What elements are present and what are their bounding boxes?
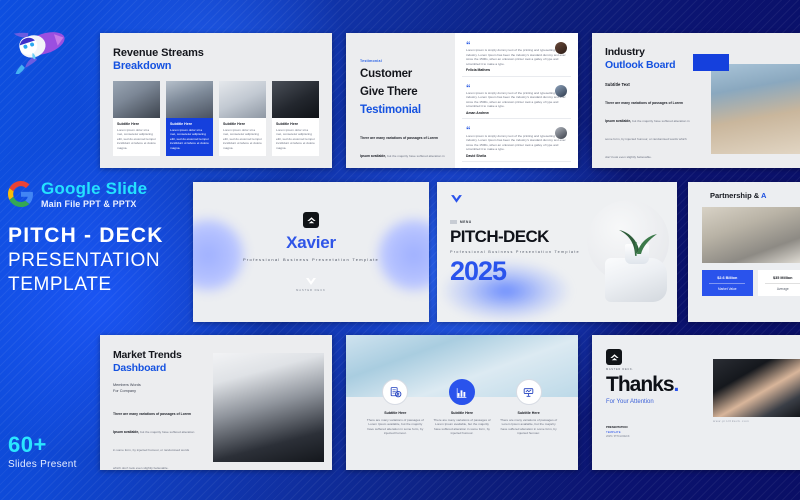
card-photo [272,81,319,118]
footer-meta: 2025 / PITCH DECK [606,435,711,438]
market-meta: Members Words For Company [113,383,211,395]
google-g-icon [8,181,34,207]
thanks-dot: . [674,373,679,396]
card-photo [219,81,266,118]
promo-headline: PITCH - DECK PRESENTATION TEMPLATE [0,223,196,298]
partnership-stat-list: $2.6 Billion Market Value $35 Million Av… [702,270,800,296]
thanks-footer: PRESENTATION TEMPLATE 2025 / PITCH DECK [606,425,711,438]
thanks-url: www.pitchdeck.com [713,420,800,423]
testimonial-card[interactable]: “ Lorem ipsum is simply dummy text of th… [462,39,571,77]
stat-value: $2.6 Billion [717,276,737,280]
revenue-card[interactable]: Subtitle Here Lorem ipsum dolor sit a me… [272,81,319,156]
testimonial-title-2: Give There [360,85,455,99]
slide-industry-outlook[interactable]: Industry Outlook Board Subtitle Text The… [592,33,800,168]
revenue-card[interactable]: Subtitle Here Lorem ipsum dolor sit a me… [113,81,160,156]
google-slide-subtitle: Main File PPT & PPTX [41,199,147,209]
industry-photo [711,64,800,154]
bar-chart-icon [449,379,475,405]
card-body: Lorem ipsum dolor sit a met, consetetur … [276,128,315,150]
divider [709,283,745,284]
feature-column[interactable]: Subtitle Here There are many variations … [500,379,558,436]
promo-title-line-2: PRESENTATION [8,249,196,273]
footer-name: TEMPLATE [606,430,711,434]
thanks-photo [713,359,800,417]
card-body: Lorem ipsum dolor sit a met, consetetur … [223,128,262,150]
blur-circle-left [193,216,247,294]
testimonial-title-3: Testimonial [360,103,455,117]
xavier-footer: MASTER DECK [296,289,326,292]
slides-count: 60+ Slides Present [8,432,77,470]
revenue-card[interactable]: Subtitle Here Lorem ipsum dolor sit a me… [166,81,213,156]
documents-icon [382,379,408,405]
feature-text: There are many variations of passages of… [500,418,558,436]
revenue-title-2: Breakdown [113,60,319,72]
stat-label: Market Value [718,287,737,291]
promo-title-line-3: TEMPLATE [8,273,196,297]
market-photo [213,353,324,462]
avatar [555,85,567,97]
card-body: Lorem ipsum dolor sit a met, consetetur … [170,128,209,150]
stat-value: $35 Million [773,276,792,280]
stat-card[interactable]: $35 Million Average [758,270,800,296]
xavier-tagline: Professional Business Presentation Templ… [243,257,379,262]
testimonial-author: David Sheila [466,154,567,158]
industry-subtitle: Subtitle Text [605,82,709,87]
slides-count-label: Slides Present [8,459,77,470]
google-slide-title: Google Slide [41,180,147,198]
blur-circle-right [375,216,429,294]
feature-column[interactable]: Subtitle Here There are many variations … [366,379,424,436]
analytics-icon [516,379,542,405]
brand-mark-icon [303,212,319,228]
plant-icon [609,224,659,258]
slide-market-trends[interactable]: Market Trends Dashboard Members Words Fo… [100,335,332,470]
card-body: Lorem ipsum dolor sit a met, consetetur … [117,128,156,150]
thanks-subtitle: For Your Attention [606,399,711,405]
brand-mark-icon [606,349,622,365]
feature-text: There are many variations of passages of… [433,418,491,436]
partnership-photo [702,207,800,263]
stat-card[interactable]: $2.6 Billion Market Value [702,270,753,296]
slide-three-features[interactable]: Subtitle Here There are many variations … [346,335,578,470]
card-photo [166,81,213,118]
bird-emblem-icon [305,277,317,287]
stat-label: Average [777,287,789,291]
feature-text: There are many variations of passages of… [366,418,424,436]
avatar [555,42,567,54]
industry-accent-block [693,54,729,71]
chevron-up-house-icon [306,215,317,226]
rocket-mascot-icon [6,12,74,74]
feature-title: Subtitle Here [451,411,473,415]
testimonial-card[interactable]: “ Lorem ipsum is simply dummy text of th… [462,124,571,162]
pitchdeck-year: 2025 [450,256,677,287]
market-body-rest: but the majority have suffered alteratio… [113,430,194,470]
revenue-title-1: Revenue Streams [113,47,319,59]
slide-pitch-deck-2025[interactable]: MENU PITCH-DECK Professional Business Pr… [437,182,677,322]
testimonial-title-1: Customer [360,67,455,81]
thanks-title: Thanks. [606,373,711,397]
slide-xavier-cover[interactable]: Xavier Professional Business Presentatio… [193,182,429,322]
thanks-mark-label: MASTER DECK. [606,368,711,371]
testimonial-author: Aman Andrew [466,111,567,115]
card-subtitle: Subtitle Here [117,122,156,126]
kicker-label: MENU [460,220,472,224]
thanks-title-text: Thanks [606,373,674,396]
promo-panel: Google Slide Main File PPT & PPTX PITCH … [0,180,196,325]
divider [765,283,800,284]
slide-thanks[interactable]: MASTER DECK. Thanks. For Your Attention … [592,335,800,470]
revenue-card[interactable]: Subtitle Here Lorem ipsum dolor sit a me… [219,81,266,156]
slide-revenue-streams[interactable]: Revenue Streams Breakdown Subtitle Here … [100,33,332,168]
slide-partnership[interactable]: Partnership & A $2.6 Billion Market Valu… [688,182,800,322]
testimonial-text: Lorem ipsum is simply dummy text of the … [466,91,567,109]
bird-logo-icon [450,194,463,205]
partnership-title-dark: Partnership & [710,191,761,200]
testimonial-text: Lorem ipsum is simply dummy text of the … [466,134,567,152]
market-meta-line-2: For Company [113,389,211,395]
testimonial-author: Felicia Mathew [466,68,567,72]
card-subtitle: Subtitle Here [170,122,209,126]
partnership-title: Partnership & A [688,191,800,200]
slides-count-number: 60+ [8,432,77,458]
card-photo [113,81,160,118]
card-subtitle: Subtitle Here [223,122,262,126]
feature-column-list: Subtitle Here There are many variations … [346,379,578,436]
testimonial-text: Lorem ipsum is simply dummy text of the … [466,48,567,66]
feature-column[interactable]: Subtitle Here There are many variations … [433,379,491,436]
slide-testimonial[interactable]: Testimonial Customer Give There Testimon… [346,33,578,168]
partnership-title-blue: A [761,191,766,200]
testimonial-card-list: “ Lorem ipsum is simply dummy text of th… [455,33,578,168]
google-slide-badge: Google Slide Main File PPT & PPTX [0,180,196,209]
pitchdeck-object-photo [579,196,671,306]
testimonial-kicker: Testimonial [360,59,455,63]
testimonial-card[interactable]: “ Lorem ipsum is simply dummy text of th… [462,82,571,120]
footer-label: PRESENTATION [606,425,711,429]
market-title-1: Market Trends [113,349,211,361]
industry-body-rest: but the majority have suffered alteratio… [605,119,690,159]
promo-title-line-1: PITCH - DECK [8,223,196,249]
revenue-card-list: Subtitle Here Lorem ipsum dolor sit a me… [113,81,319,156]
feature-title: Subtitle Here [518,411,540,415]
chevron-up-house-icon [609,352,620,363]
xavier-name: Xavier [286,233,336,253]
market-title-2: Dashboard [113,362,211,374]
card-subtitle: Subtitle Here [276,122,315,126]
feature-title: Subtitle Here [384,411,406,415]
kicker-bar-icon [450,220,457,224]
